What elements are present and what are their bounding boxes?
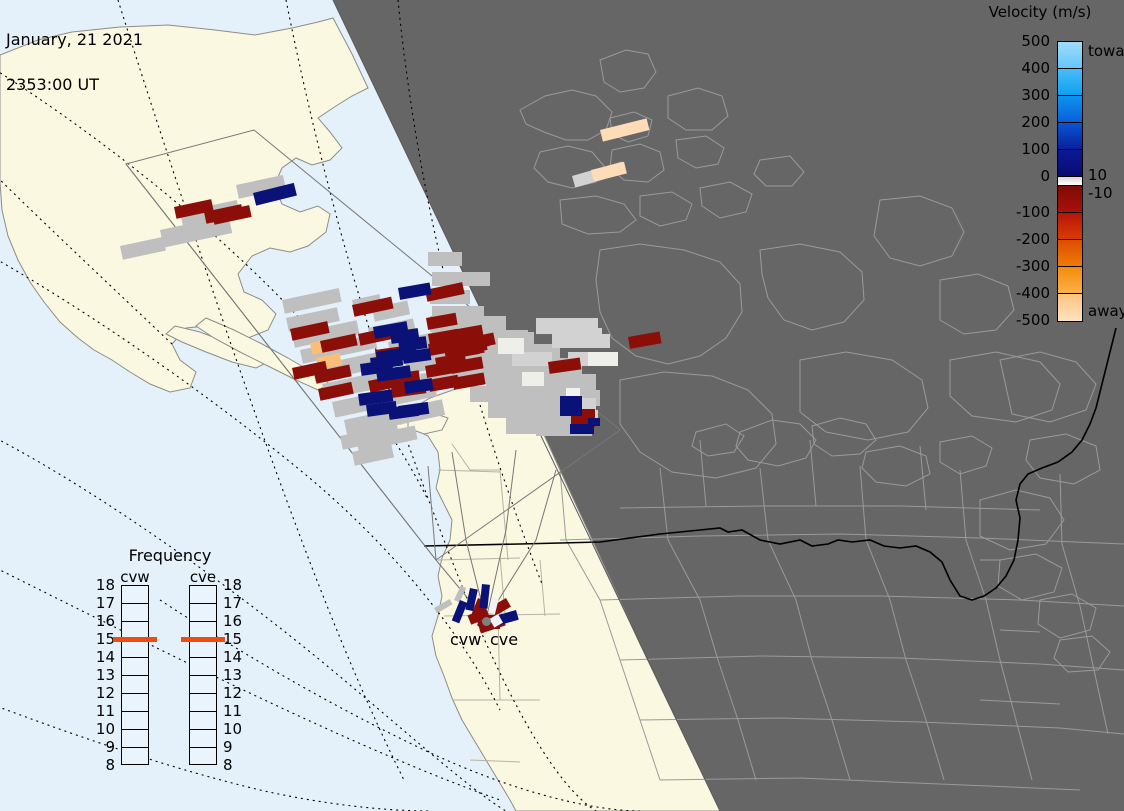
frequency-cell — [122, 586, 148, 604]
frequency-cell — [122, 676, 148, 694]
frequency-cell — [122, 640, 148, 658]
fan-plot-stage: cvw cve January, 21 2021 2353:00 UT Velo… — [0, 0, 1124, 811]
colorbar-title: Velocity (m/s) — [970, 3, 1110, 21]
frequency-title: Frequency — [75, 546, 265, 565]
frequency-cell — [190, 694, 216, 712]
frequency-tick-right: 8 — [223, 758, 245, 773]
frequency-cell — [190, 730, 216, 748]
frequency-panel: Frequency cvw cve 18171615141312111098 1… — [75, 546, 275, 776]
frequency-tick-left: 13 — [93, 668, 115, 683]
site-label-cve: cve — [490, 630, 518, 649]
frequency-tick-left: 12 — [93, 686, 115, 701]
frequency-tick-right: 10 — [223, 722, 245, 737]
frequency-tick-left: 10 — [93, 722, 115, 737]
frequency-tick-left: 18 — [93, 578, 115, 593]
frequency-tick-left: 9 — [93, 740, 115, 755]
frequency-cell — [122, 748, 148, 766]
frequency-tick-left: 15 — [93, 632, 115, 647]
frequency-cell — [122, 730, 148, 748]
frequency-tick-right: 15 — [223, 632, 245, 647]
frequency-tick-right: 14 — [223, 650, 245, 665]
velocity-colorbar-panel: Velocity (m/s) — [970, 0, 1124, 340]
frequency-column-label-cve: cve — [183, 568, 223, 586]
frequency-column-label-cvw: cvw — [115, 568, 155, 586]
frequency-marker-cvw — [113, 637, 157, 642]
timestamp-date: January, 21 2021 — [6, 32, 143, 47]
frequency-cell — [122, 694, 148, 712]
frequency-cell — [190, 640, 216, 658]
frequency-cell — [190, 676, 216, 694]
frequency-cell — [122, 658, 148, 676]
frequency-cell — [190, 586, 216, 604]
frequency-cell — [190, 712, 216, 730]
frequency-cell — [122, 712, 148, 730]
frequency-cell — [122, 604, 148, 622]
frequency-tick-left: 8 — [93, 758, 115, 773]
frequency-marker-cve — [181, 637, 225, 642]
frequency-tick-right: 18 — [223, 578, 245, 593]
frequency-cell — [190, 658, 216, 676]
frequency-gauge-cve[interactable] — [189, 585, 217, 765]
frequency-tick-right: 9 — [223, 740, 245, 755]
frequency-cell — [190, 604, 216, 622]
site-label-cvw: cvw — [450, 630, 481, 649]
timestamp-block: January, 21 2021 2353:00 UT — [6, 2, 143, 122]
frequency-tick-right: 16 — [223, 614, 245, 629]
frequency-tick-left: 17 — [93, 596, 115, 611]
frequency-tick-left: 14 — [93, 650, 115, 665]
frequency-gauge-cvw[interactable] — [121, 585, 149, 765]
frequency-tick-left: 11 — [93, 704, 115, 719]
frequency-cell — [190, 748, 216, 766]
frequency-tick-right: 17 — [223, 596, 245, 611]
frequency-tick-right: 11 — [223, 704, 245, 719]
frequency-tick-right: 13 — [223, 668, 245, 683]
radar-site-marker — [482, 617, 491, 626]
timestamp-time: 2353:00 UT — [6, 77, 143, 92]
frequency-tick-left: 16 — [93, 614, 115, 629]
frequency-tick-right: 12 — [223, 686, 245, 701]
